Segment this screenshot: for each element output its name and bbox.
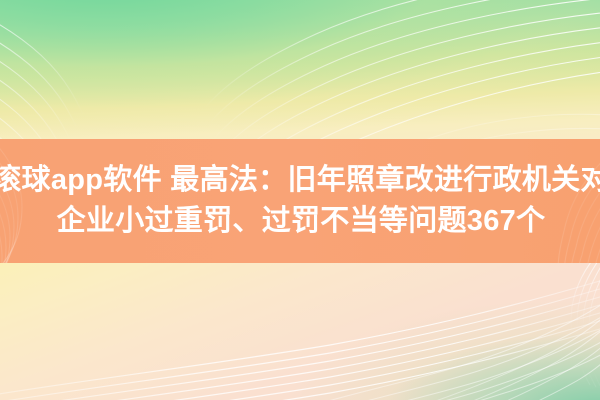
headline-text-block: 滚球app软件 最高法：旧年照章改进行政机关对 企业小过重罚、过罚不当等问题36…	[0, 139, 600, 263]
swirl-line-texture-bottom	[0, 263, 600, 400]
headline-line-2: 企业小过重罚、过罚不当等问题367个	[55, 201, 546, 242]
decorative-text-banner: 滚球app软件 最高法：旧年照章改进行政机关对 企业小过重罚、过罚不当等问题36…	[0, 0, 600, 400]
swirl-line-texture-top	[0, 0, 600, 139]
headline-line-1: 滚球app软件 最高法：旧年照章改进行政机关对	[0, 160, 600, 201]
banner-top-gradient-region	[0, 0, 600, 139]
banner-bottom-gradient-region	[0, 263, 600, 400]
